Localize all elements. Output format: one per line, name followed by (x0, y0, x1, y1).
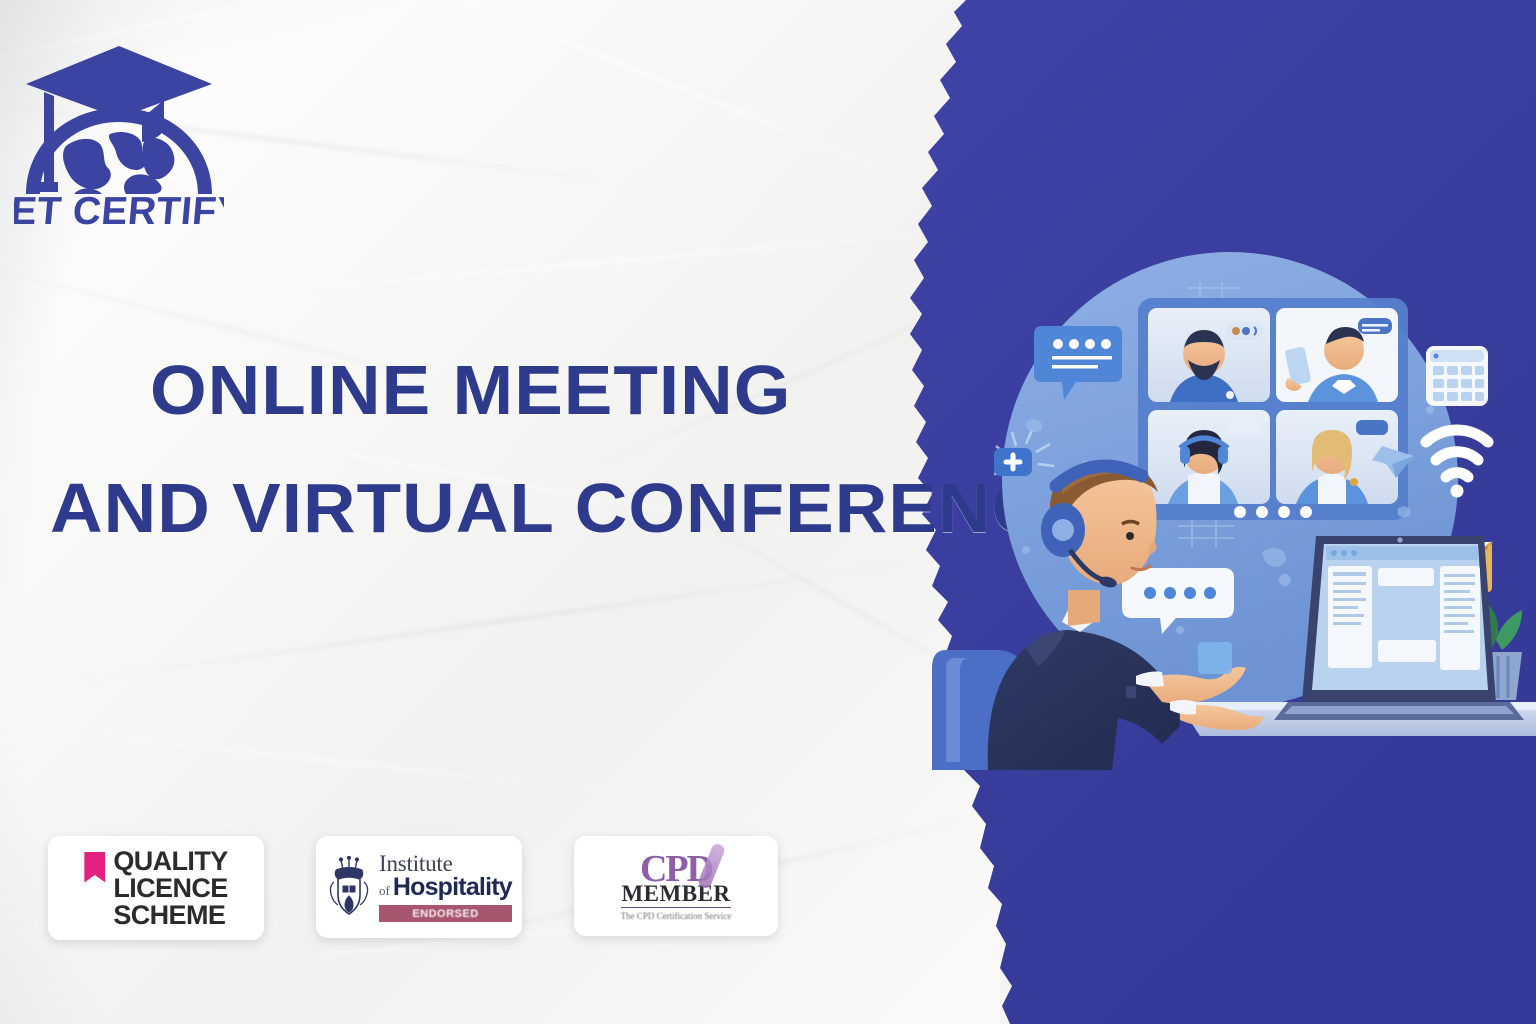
badge-ioh-ribbon-text: ENDORSED (412, 908, 478, 920)
participant-young-man-with-phone (1276, 308, 1398, 402)
badge-qls-text: QUALITY LICENCE SCHEME (113, 848, 227, 929)
badge-quality-licence-scheme[interactable]: QUALITY LICENCE SCHEME (48, 836, 264, 940)
badge-institute-of-hospitality[interactable]: Institute of Hospitality ENDORSED (316, 836, 522, 938)
page-title: ONLINE MEETING AND VIRTUAL CONFERENCE (50, 355, 850, 543)
online-meeting-illustration (930, 250, 1536, 770)
cpd-logo-mark: CPD (640, 851, 712, 887)
headline-line-1: ONLINE MEETING (150, 355, 878, 425)
badge-ioh-line-1: Institute (379, 852, 512, 875)
video-call-grid[interactable] (1138, 298, 1408, 520)
accreditation-badges: QUALITY LICENCE SCHEME (48, 836, 778, 940)
badge-qls-line-2: LICENCE (113, 875, 227, 902)
participant-bearded-man (1148, 308, 1270, 402)
calendar-icon (1426, 346, 1488, 406)
cpd-subtitle: The CPD Certification Service (584, 911, 768, 921)
illustration-svg (930, 250, 1536, 770)
graduation-cap-globe-icon: GET CERTIFY (14, 34, 224, 226)
badge-ioh-ribbon: ENDORSED (379, 905, 512, 922)
badge-ioh-of: of (379, 883, 390, 899)
badge-cpd-member[interactable]: CPD MEMBER The CPD Certification Service (574, 836, 778, 936)
headline-line-2: AND VIRTUAL CONFERENCE (50, 473, 882, 543)
badge-qls-line-1: QUALITY (113, 848, 227, 875)
logo-wordmark: GET CERTIFY (14, 190, 224, 226)
badge-qls-line-3: SCHEME (113, 902, 227, 929)
sticky-note-icon (1198, 642, 1232, 674)
participant-woman-with-headphones (1148, 410, 1270, 504)
banner-root: GET CERTIFY ONLINE MEETING AND VIRTUAL C… (0, 0, 1536, 1024)
brand-logo[interactable]: GET CERTIFY (14, 34, 224, 226)
heraldic-crest-icon (326, 856, 372, 918)
badge-ioh-line-2: Hospitality (393, 875, 512, 900)
bookmark-icon (84, 852, 105, 883)
